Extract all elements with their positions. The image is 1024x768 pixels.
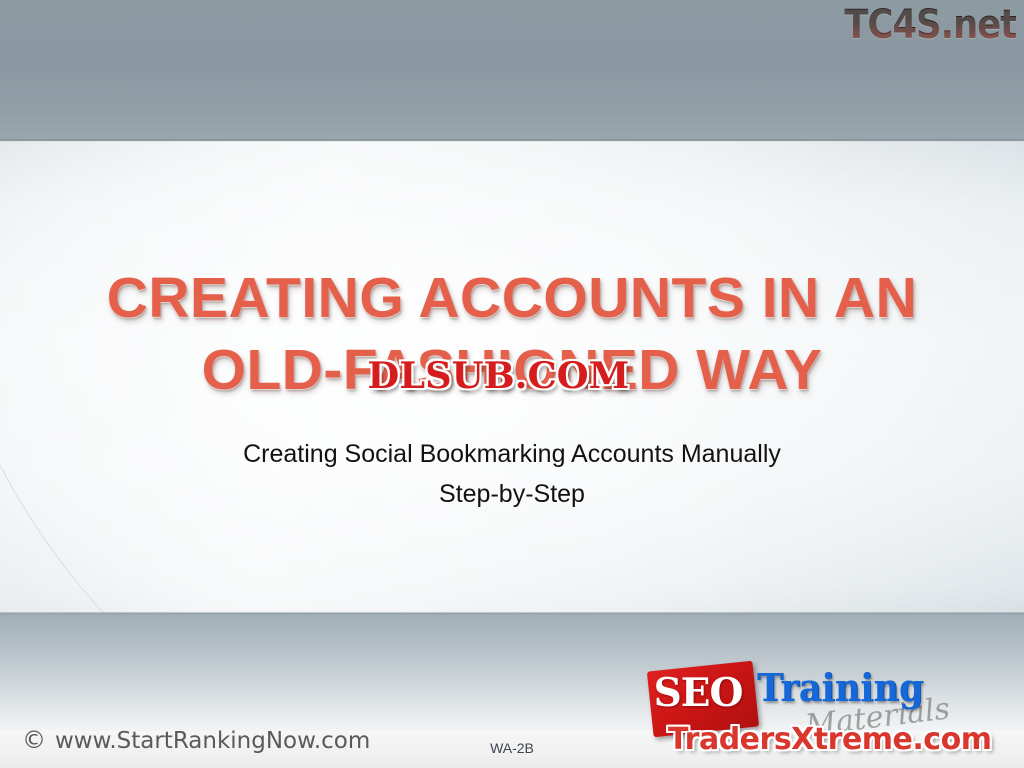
tradersxtreme-watermark: TradersXtreme.com — [668, 722, 991, 757]
slide-title-line-1: CREATING ACCOUNTS IN AN — [0, 262, 1024, 334]
tc4s-logo: TC4S.net — [844, 2, 1016, 48]
dlsub-watermark: DLSUB.COM — [367, 355, 629, 397]
presentation-slide: TC4S.net CREATING ACCOUNTS IN AN OLD-FAS… — [0, 0, 1024, 768]
seo-badge-label: SEO — [645, 660, 751, 726]
slide-subtitle-line-1: Creating Social Bookmarking Accounts Man… — [0, 434, 1024, 474]
slide-subtitle-line-2: Step-by-Step — [0, 474, 1024, 514]
background-bottom-band-edge — [0, 612, 1024, 615]
background-top-band-edge — [0, 139, 1024, 142]
seo-training-word: Training — [757, 665, 923, 710]
slide-subtitle: Creating Social Bookmarking Accounts Man… — [0, 434, 1024, 514]
